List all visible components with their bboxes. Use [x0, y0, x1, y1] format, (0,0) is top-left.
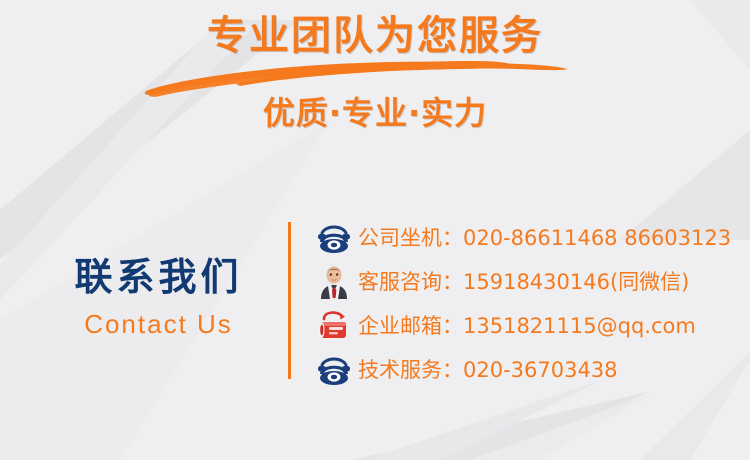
contact-us-title-cn: 联系我们: [46, 256, 271, 300]
mailbox-icon: [316, 308, 352, 344]
contact-row-email[interactable]: 企业邮箱：1351821115@qq.com: [316, 304, 736, 348]
contact-label: 技术服务：: [358, 358, 463, 382]
contact-value: 1351821115@qq.com: [463, 314, 696, 338]
contact-row-text: 公司坐机：020-86611468 86603123: [358, 228, 731, 249]
contact-value: 020-86611468 86603123: [463, 226, 731, 250]
contact-row-company-landline[interactable]: 公司坐机：020-86611468 86603123: [316, 216, 736, 260]
rotary-phone-icon: [316, 220, 352, 256]
contact-row-customer-service[interactable]: 客服咨询：15918430146(同微信): [316, 260, 736, 304]
contact-row-technical-service[interactable]: 技术服务：020-36703438: [316, 348, 736, 392]
contact-row-text: 技术服务：020-36703438: [358, 360, 618, 381]
contact-list: 公司坐机：020-86611468 86603123 客服咨询：15918430…: [316, 216, 736, 392]
contact-row-text: 企业邮箱：1351821115@qq.com: [358, 316, 696, 337]
contact-value: 020-36703438: [463, 358, 618, 382]
contact-label: 客服咨询：: [358, 270, 463, 294]
contact-label: 公司坐机：: [358, 226, 463, 250]
contact-label: 企业邮箱：: [358, 314, 463, 338]
rotary-phone-icon: [316, 352, 352, 388]
contact-value: 15918430146(同微信): [463, 270, 689, 294]
contact-us-heading-block: 联系我们 Contact Us: [46, 256, 271, 338]
contact-us-title-en: Contact Us: [46, 310, 271, 339]
vertical-divider: [288, 222, 291, 379]
contact-banner: 专业团队为您服务 优质·专业·实力 联系我们 Contact Us: [0, 0, 750, 460]
customer-service-person-icon: [316, 264, 352, 300]
page-subtitle: 优质·专业·实力: [0, 96, 750, 131]
contact-row-text: 客服咨询：15918430146(同微信): [358, 272, 689, 293]
page-title: 专业团队为您服务: [0, 16, 750, 56]
